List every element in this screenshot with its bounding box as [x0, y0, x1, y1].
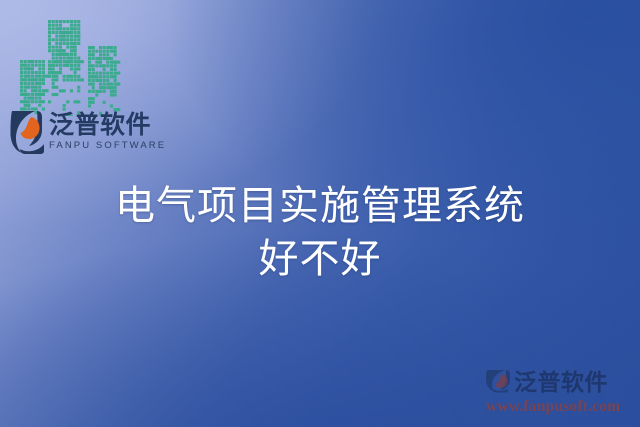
watermark-name-cn: 泛普软件	[514, 363, 608, 397]
brand-text: 泛普软件 FANPU SOFTWARE	[49, 112, 166, 151]
watermark: 泛普软件 www.fanpusoft.com	[484, 363, 632, 419]
watermark-fanpu-logo-icon	[484, 367, 512, 393]
watermark-logo-row: 泛普软件	[484, 363, 632, 397]
brand-name-cn: 泛普软件	[49, 112, 166, 137]
skyline-svg	[16, 14, 136, 116]
page-title-line-1: 电气项目实施管理系统	[0, 180, 640, 233]
brand-logo: 泛普软件 FANPU SOFTWARE	[9, 104, 154, 158]
watermark-url: www.fanpusoft.com	[484, 398, 632, 416]
fanpu-logo-icon	[9, 107, 45, 155]
slide-canvas: 泛普软件 FANPU SOFTWARE 电气项目实施管理系统 好不好 泛普软件 …	[0, 0, 640, 427]
pixel-skyline-graphic	[16, 14, 136, 116]
brand-name-en: FANPU SOFTWARE	[49, 141, 166, 151]
page-title: 电气项目实施管理系统 好不好	[0, 180, 640, 286]
page-title-line-2: 好不好	[0, 233, 640, 286]
